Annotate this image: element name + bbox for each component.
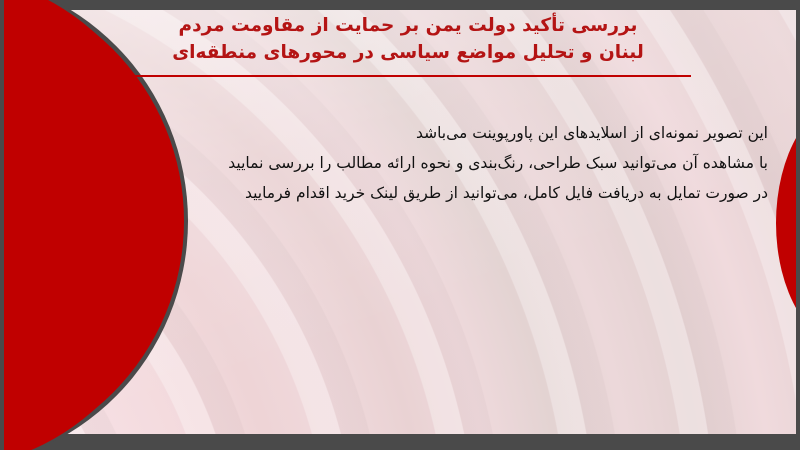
slide-canvas: بررسی تأکید دولت یمن بر حمایت از مقاومت … [0, 0, 800, 450]
slide-body-text: این تصویر نمونه‌ای از اسلایدهای این پاور… [68, 118, 768, 208]
slide-frame-right-rail [796, 0, 800, 450]
title-underline-rule [134, 75, 691, 77]
slide-title-line-2: لبنان و تحلیل مواضع سیاسی در محورهای منط… [120, 39, 696, 66]
body-line-3: در صورت تمایل به دریافت فایل کامل، می‌تو… [68, 178, 768, 208]
slide-title-line-1: بررسی تأکید دولت یمن بر حمایت از مقاومت … [120, 12, 696, 39]
slide-title: بررسی تأکید دولت یمن بر حمایت از مقاومت … [120, 12, 696, 66]
slide-frame-left-rail [0, 0, 4, 450]
body-line-2: با مشاهده آن می‌توانید سبک طراحی، رنگ‌بن… [68, 148, 768, 178]
slide-frame-top [0, 0, 800, 10]
slide-frame-bottom [0, 434, 800, 450]
body-line-1: این تصویر نمونه‌ای از اسلایدهای این پاور… [68, 118, 768, 148]
